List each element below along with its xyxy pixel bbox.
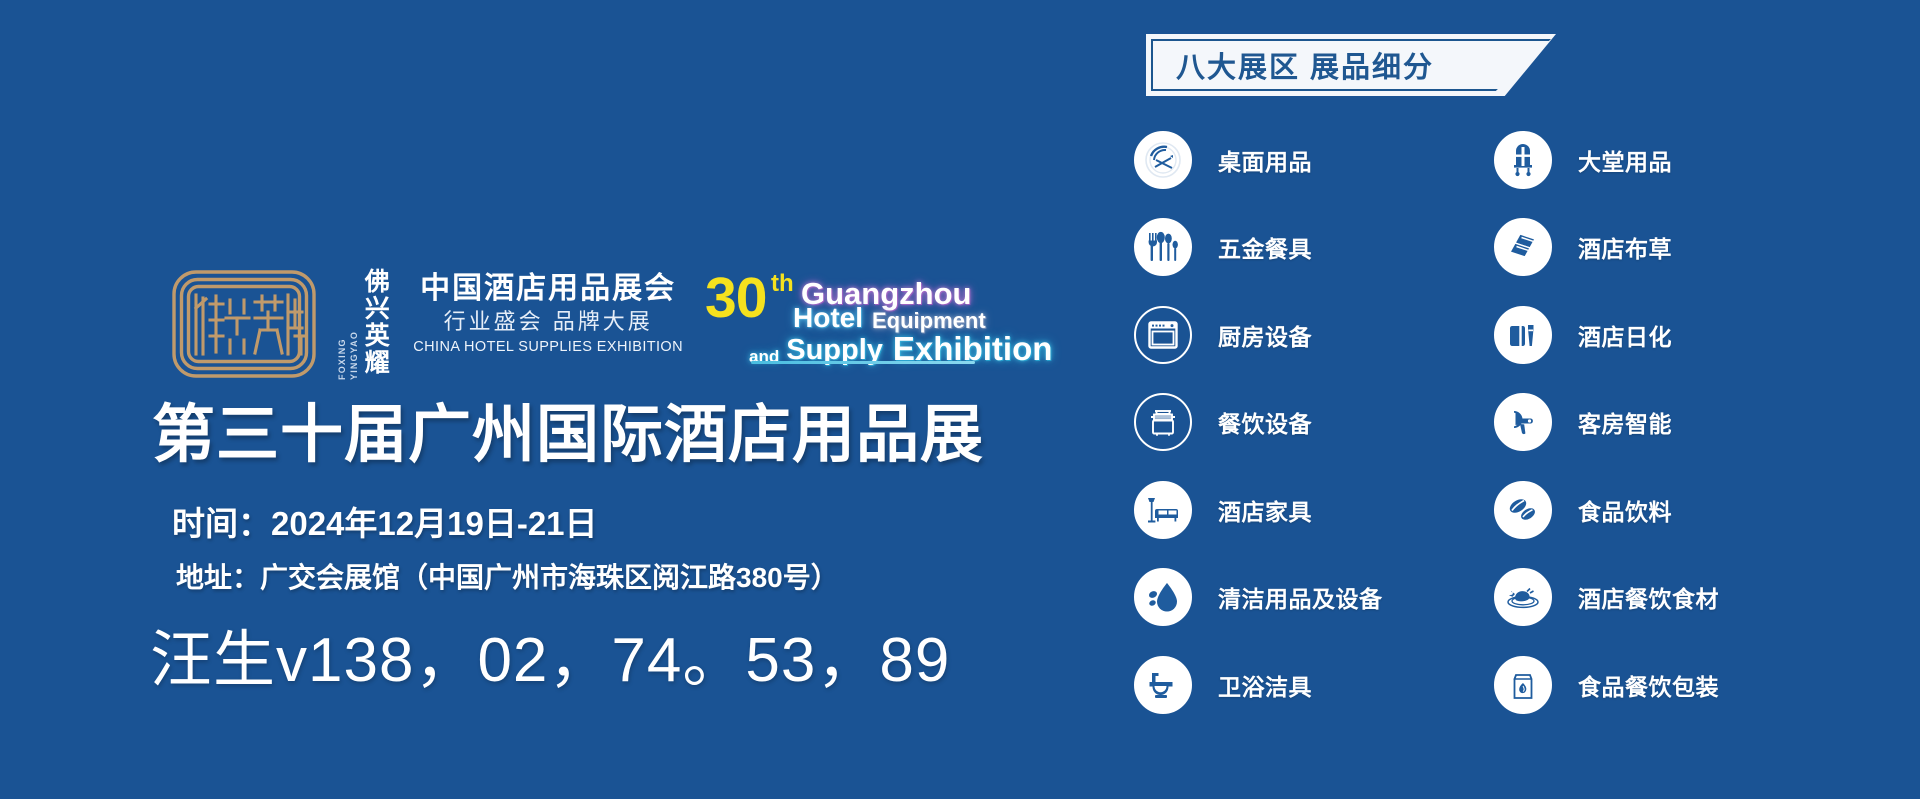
zone-label: 卫浴洁具	[1218, 668, 1312, 702]
zone-item-hotel-furniture[interactable]: 酒店家具	[1120, 466, 1480, 554]
sofa-lamp-icon	[1134, 481, 1192, 539]
toiletries-icon	[1494, 306, 1552, 364]
zone-label: 桌面用品	[1218, 143, 1312, 177]
zone-item-cutlery[interactable]: 五金餐具	[1120, 204, 1480, 292]
zone-item-lobby-supplies[interactable]: 大堂用品	[1480, 116, 1840, 204]
folded-linen-icon	[1494, 218, 1552, 276]
organizer-title-cn: 中国酒店用品展会	[413, 272, 683, 306]
coffee-beans-icon	[1494, 481, 1552, 539]
zone-item-cleaning-supplies[interactable]: 清洁用品及设备	[1120, 554, 1480, 642]
zone-label: 酒店餐饮食材	[1578, 580, 1719, 614]
organizer-title-block: 中国酒店用品展会 行业盛会 品牌大展 CHINA HOTEL SUPPLIES …	[413, 268, 683, 359]
anniversary-underline	[751, 361, 975, 364]
zone-label: 食品饮料	[1578, 493, 1672, 527]
organizer-title-en: CHINA HOTEL SUPPLIES EXHIBITION	[413, 337, 683, 359]
zone-item-food-beverage[interactable]: 食品饮料	[1480, 466, 1840, 554]
water-drop-icon	[1134, 568, 1192, 626]
foxing-yingyao-seal-logo	[170, 268, 318, 380]
luggage-cart-icon	[1494, 131, 1552, 189]
zone-item-smart-guestroom[interactable]: 客房智能	[1480, 379, 1840, 467]
zone-item-catering-ingredients[interactable]: 酒店餐饮食材	[1480, 554, 1840, 642]
hair-dryer-icon	[1494, 393, 1552, 451]
zone-label: 清洁用品及设备	[1218, 580, 1383, 614]
zone-item-kitchen-equipment[interactable]: 厨房设备	[1120, 291, 1480, 379]
zone-item-hotel-amenities[interactable]: 酒店日化	[1480, 291, 1840, 379]
anniversary-word-equipment: Equipment	[872, 310, 986, 332]
toilet-icon	[1134, 656, 1192, 714]
exhibition-zone-grid: 桌面用品 大堂用品	[1120, 116, 1920, 729]
cutlery-icon	[1134, 218, 1192, 276]
brand-vertical-chinese: 佛兴英耀	[362, 268, 387, 380]
page-title: 第三十届广州国际酒店用品展	[152, 404, 984, 467]
zone-label: 大堂用品	[1578, 143, 1672, 177]
exhibition-zones-panel: 八大展区 展品细分 桌面用品	[1120, 0, 1920, 799]
anniversary-word-hotel: Hotel	[793, 304, 863, 332]
steamer-pot-icon	[1134, 393, 1192, 451]
zone-label: 酒店日化	[1578, 318, 1672, 352]
zone-label: 厨房设备	[1218, 318, 1312, 352]
oven-icon	[1134, 306, 1192, 364]
anniversary-ordinal: th	[771, 272, 794, 296]
brand-vertical-pinyin: FOXING YINGYAO	[336, 298, 360, 380]
organizer-subtitle-cn: 行业盛会 品牌大展	[413, 306, 683, 338]
event-date-text: 时间：2024年12月19日-21日	[172, 497, 598, 545]
zone-item-food-packaging[interactable]: 食品餐饮包装	[1480, 641, 1840, 729]
tableware-plate-icon	[1134, 131, 1192, 189]
contact-phone-text: 汪生v138，02，74。53，89	[150, 609, 950, 699]
brand-vertical-text: 佛兴英耀 FOXING YINGYAO	[336, 268, 387, 380]
zone-item-sanitary-ware[interactable]: 卫浴洁具	[1120, 641, 1480, 729]
roast-poultry-icon	[1494, 568, 1552, 626]
zone-label: 五金餐具	[1218, 230, 1312, 264]
promo-left-panel: 佛兴英耀 FOXING YINGYAO 中国酒店用品展会 行业盛会 品牌大展 C…	[0, 0, 1120, 799]
anniversary-lockup: 30 th Guangzhou Hotel Equipment and Supp…	[705, 268, 975, 368]
zone-label: 酒店布草	[1578, 230, 1672, 264]
anniversary-number: 30	[705, 270, 766, 327]
section-banner: 八大展区 展品细分	[1146, 34, 1556, 96]
zone-label: 客房智能	[1578, 405, 1672, 439]
zone-label: 食品餐饮包装	[1578, 668, 1719, 702]
zone-item-tableware[interactable]: 桌面用品	[1120, 116, 1480, 204]
food-bag-icon	[1494, 656, 1552, 714]
zone-item-hotel-linen[interactable]: 酒店布草	[1480, 204, 1840, 292]
zone-label: 酒店家具	[1218, 493, 1312, 527]
zone-label: 餐饮设备	[1218, 405, 1312, 439]
zone-item-catering-equipment[interactable]: 餐饮设备	[1120, 379, 1480, 467]
section-banner-title: 八大展区 展品细分	[1176, 34, 1434, 96]
event-address-text: 地址：广交会展馆（中国广州市海珠区阅江路380号）	[176, 556, 839, 596]
brand-lockup: 佛兴英耀 FOXING YINGYAO 中国酒店用品展会 行业盛会 品牌大展 C…	[170, 268, 975, 380]
